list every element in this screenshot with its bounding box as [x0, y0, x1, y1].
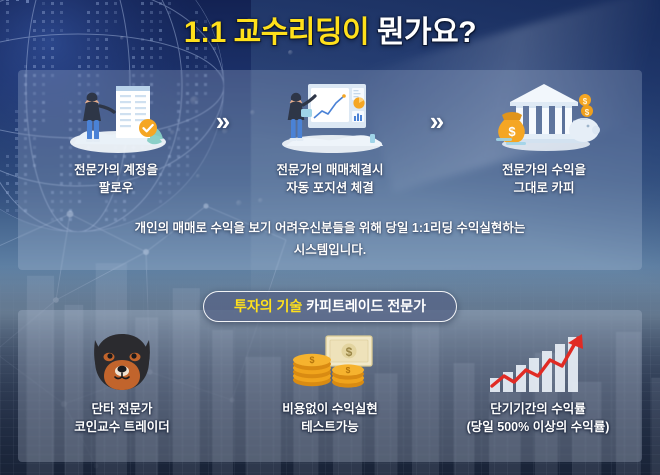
step-item: 전문가의 매매체결시 자동 포지션 체결 — [246, 78, 414, 198]
bokeh-dot — [288, 50, 293, 55]
feature-item: 단기기간의 수익률 (당일 500% 이상의 수익률) — [438, 330, 638, 436]
banknote: $ — [326, 336, 372, 366]
step-label: 전문가의 수익을 그대로 카피 — [502, 162, 586, 198]
double-chevron-right-icon: » — [200, 78, 246, 134]
svg-text:$: $ — [583, 97, 588, 106]
lead-paragraph: 개인의 매매로 수익을 보기 어려우신분들을 위해 당일 1:1리딩 수익실현하… — [50, 218, 610, 261]
rising-bar-chart-arrow-icon — [482, 330, 594, 396]
svg-text:$: $ — [346, 365, 351, 375]
svg-text:$: $ — [508, 124, 516, 139]
feature-label: 단타 전문가 코인교수 트레이더 — [74, 400, 169, 436]
badge-highlight: 투자의 기술 — [234, 298, 302, 314]
coins-banknote-icon: $ $ — [274, 330, 386, 396]
step-item: 전문가의 계정을 팔로우 — [32, 78, 200, 198]
document-checkmark-person-icon — [56, 78, 176, 154]
coin-stack-left: $ — [293, 354, 331, 386]
feature-label: 비용없이 수익실현 테스트가능 — [282, 400, 377, 436]
gold-coins: $ $ — [579, 94, 593, 117]
feature-label: 단기기간의 수익률 (당일 500% 이상의 수익률) — [467, 400, 610, 436]
piggy-bank — [569, 118, 600, 142]
double-chevron-right-icon: » — [414, 78, 460, 134]
bank-money-piggybank-icon: $ $ $ — [484, 78, 604, 154]
status-badge: 투자의 기술 카피트레이드 전문가 — [203, 291, 457, 322]
feature-item: 단타 전문가 코인교수 트레이더 — [22, 330, 222, 436]
step-label: 전문가의 계정을 팔로우 — [74, 162, 158, 198]
page-title-highlight: 1:1 교수리딩이 — [184, 16, 369, 49]
step-item: $ $ $ — [460, 78, 628, 198]
feature-item: $ $ — [230, 330, 430, 436]
presentation-chart-person-icon — [270, 78, 390, 154]
svg-text:$: $ — [346, 345, 353, 359]
svg-text:$: $ — [309, 355, 314, 365]
coin-stack-right: $ — [332, 364, 364, 387]
promo-banner: 1:1 교수리딩이 뭔가요? — [0, 0, 660, 475]
page-title: 1:1 교수리딩이 뭔가요? — [0, 18, 660, 48]
features-row: 단타 전문가 코인교수 트레이더 $ — [18, 330, 642, 450]
steps-row: 전문가의 계정을 팔로우 » — [18, 78, 642, 200]
person-figure — [288, 93, 315, 141]
step-label: 전문가의 매매체결시 자동 포지션 체결 — [277, 162, 384, 198]
page-title-rest: 뭔가요? — [377, 16, 476, 49]
badge-text: 카피트레이드 전문가 — [306, 298, 426, 314]
dog-face-icon — [66, 330, 178, 396]
svg-text:$: $ — [585, 108, 590, 117]
